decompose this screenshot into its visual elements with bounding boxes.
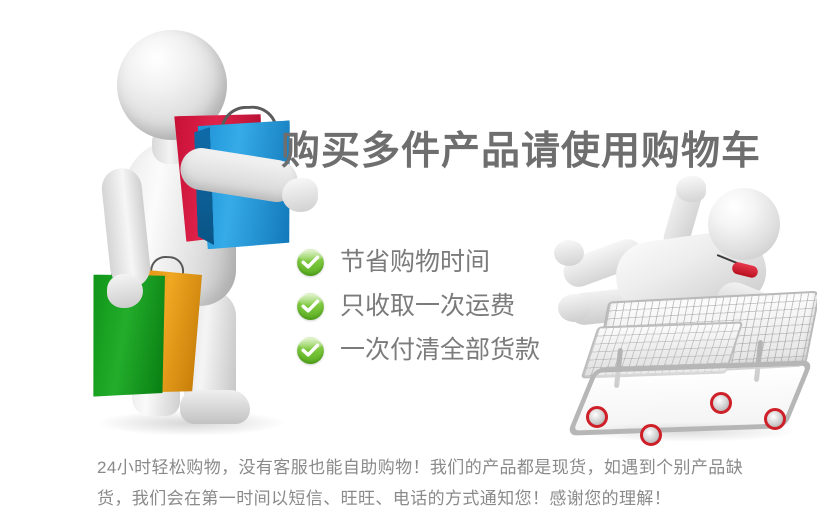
feature-item: 节省购物时间: [297, 240, 597, 284]
check-circle-icon: [297, 293, 324, 320]
rider-head: [708, 188, 780, 260]
promo-banner: 购买多件产品请使用购物车 节省购物时间 只收取一次运费: [0, 0, 817, 524]
feature-list: 节省购物时间 只收取一次运费 一次付清全部货款: [297, 240, 597, 372]
shopper-figure-illustration: [60, 18, 310, 438]
banner-headline: 购买多件产品请使用购物车: [281, 128, 761, 176]
cart-wheel-1: [586, 406, 608, 428]
rider-raised-hand: [676, 176, 706, 202]
shopper-left-hand: [107, 274, 143, 308]
check-circle-icon: [297, 249, 324, 276]
shopper-right-foot: [180, 390, 250, 424]
check-circle-icon: [297, 337, 324, 364]
feature-label: 节省购物时间: [340, 247, 490, 277]
feature-label: 一次付清全部货款: [340, 335, 540, 365]
banner-footnote: 24小时轻松购物，没有客服也能自助购物！我们的产品都是现货，如遇到个别产品缺货，…: [97, 452, 765, 514]
feature-item: 一次付清全部货款: [297, 328, 597, 372]
cart-wheel-3: [710, 392, 732, 414]
cart-wheel-2: [640, 424, 662, 446]
cart-wheel-4: [764, 408, 786, 430]
feature-item: 只收取一次运费: [297, 284, 597, 328]
shopper-right-hand: [282, 178, 318, 212]
feature-label: 只收取一次运费: [340, 291, 515, 321]
